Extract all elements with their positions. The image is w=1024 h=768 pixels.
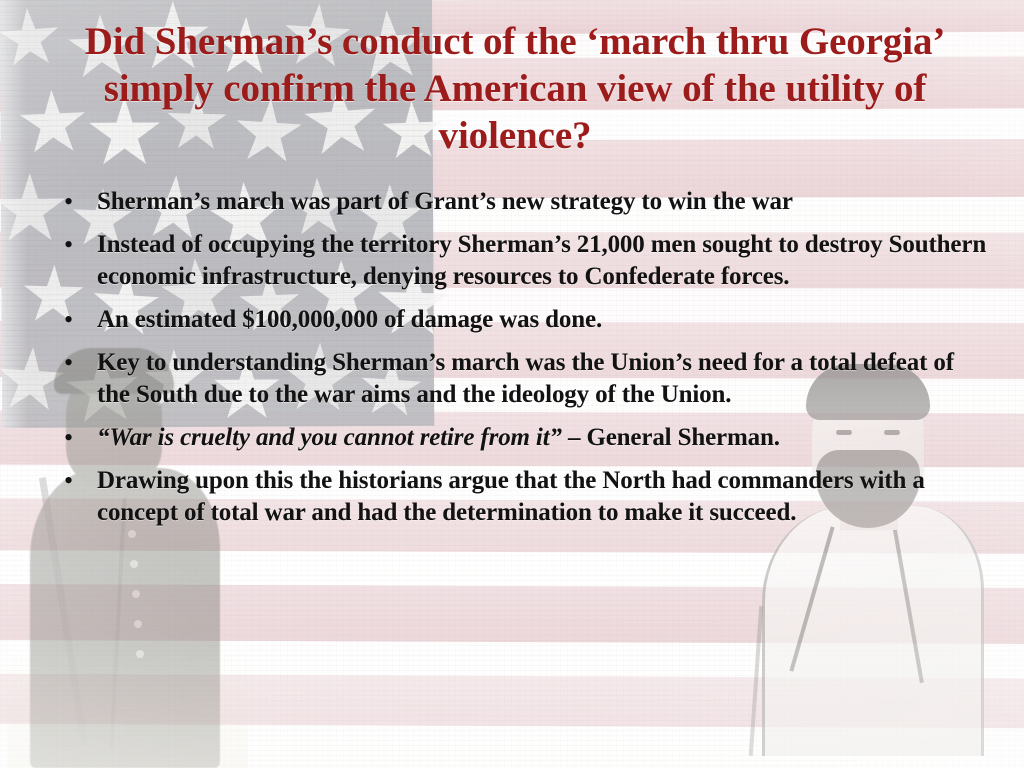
bullet-marker-icon: • (58, 186, 97, 218)
bullet-item: •“War is cruelty and you cannot retire f… (58, 422, 988, 454)
bullet-marker-icon: • (58, 465, 97, 497)
bullet-marker-icon: • (58, 347, 97, 379)
bullet-marker-icon: • (58, 229, 97, 261)
slide-title: Did Sherman’s conduct of the ‘march thru… (70, 18, 960, 159)
bullet-item: •An estimated $100,000,000 of damage was… (58, 304, 988, 336)
slide: Did Sherman’s conduct of the ‘march thru… (0, 0, 1024, 768)
bullet-item: •Drawing upon this the historians argue … (58, 465, 988, 529)
bullet-text: Sherman’s march was part of Grant’s new … (97, 186, 988, 218)
bullet-text: Drawing upon this the historians argue t… (97, 465, 988, 529)
bullet-text: “War is cruelty and you cannot retire fr… (97, 422, 988, 454)
bullet-attribution: – General Sherman. (562, 424, 780, 451)
bullet-item: •Sherman’s march was part of Grant’s new… (58, 186, 988, 218)
bullet-quote: “War is cruelty and you cannot retire fr… (97, 424, 562, 451)
slide-content: Did Sherman’s conduct of the ‘march thru… (0, 0, 1024, 768)
bullet-marker-icon: • (58, 304, 97, 336)
bullet-item: •Instead of occupying the territory Sher… (58, 229, 988, 293)
bullet-text: Key to understanding Sherman’s march was… (97, 347, 988, 411)
bullet-item: •Key to understanding Sherman’s march wa… (58, 347, 988, 411)
bullet-list: •Sherman’s march was part of Grant’s new… (58, 186, 988, 540)
bullet-text: An estimated $100,000,000 of damage was … (97, 304, 988, 336)
bullet-text: Instead of occupying the territory Sherm… (97, 229, 988, 293)
bullet-marker-icon: • (58, 422, 97, 454)
